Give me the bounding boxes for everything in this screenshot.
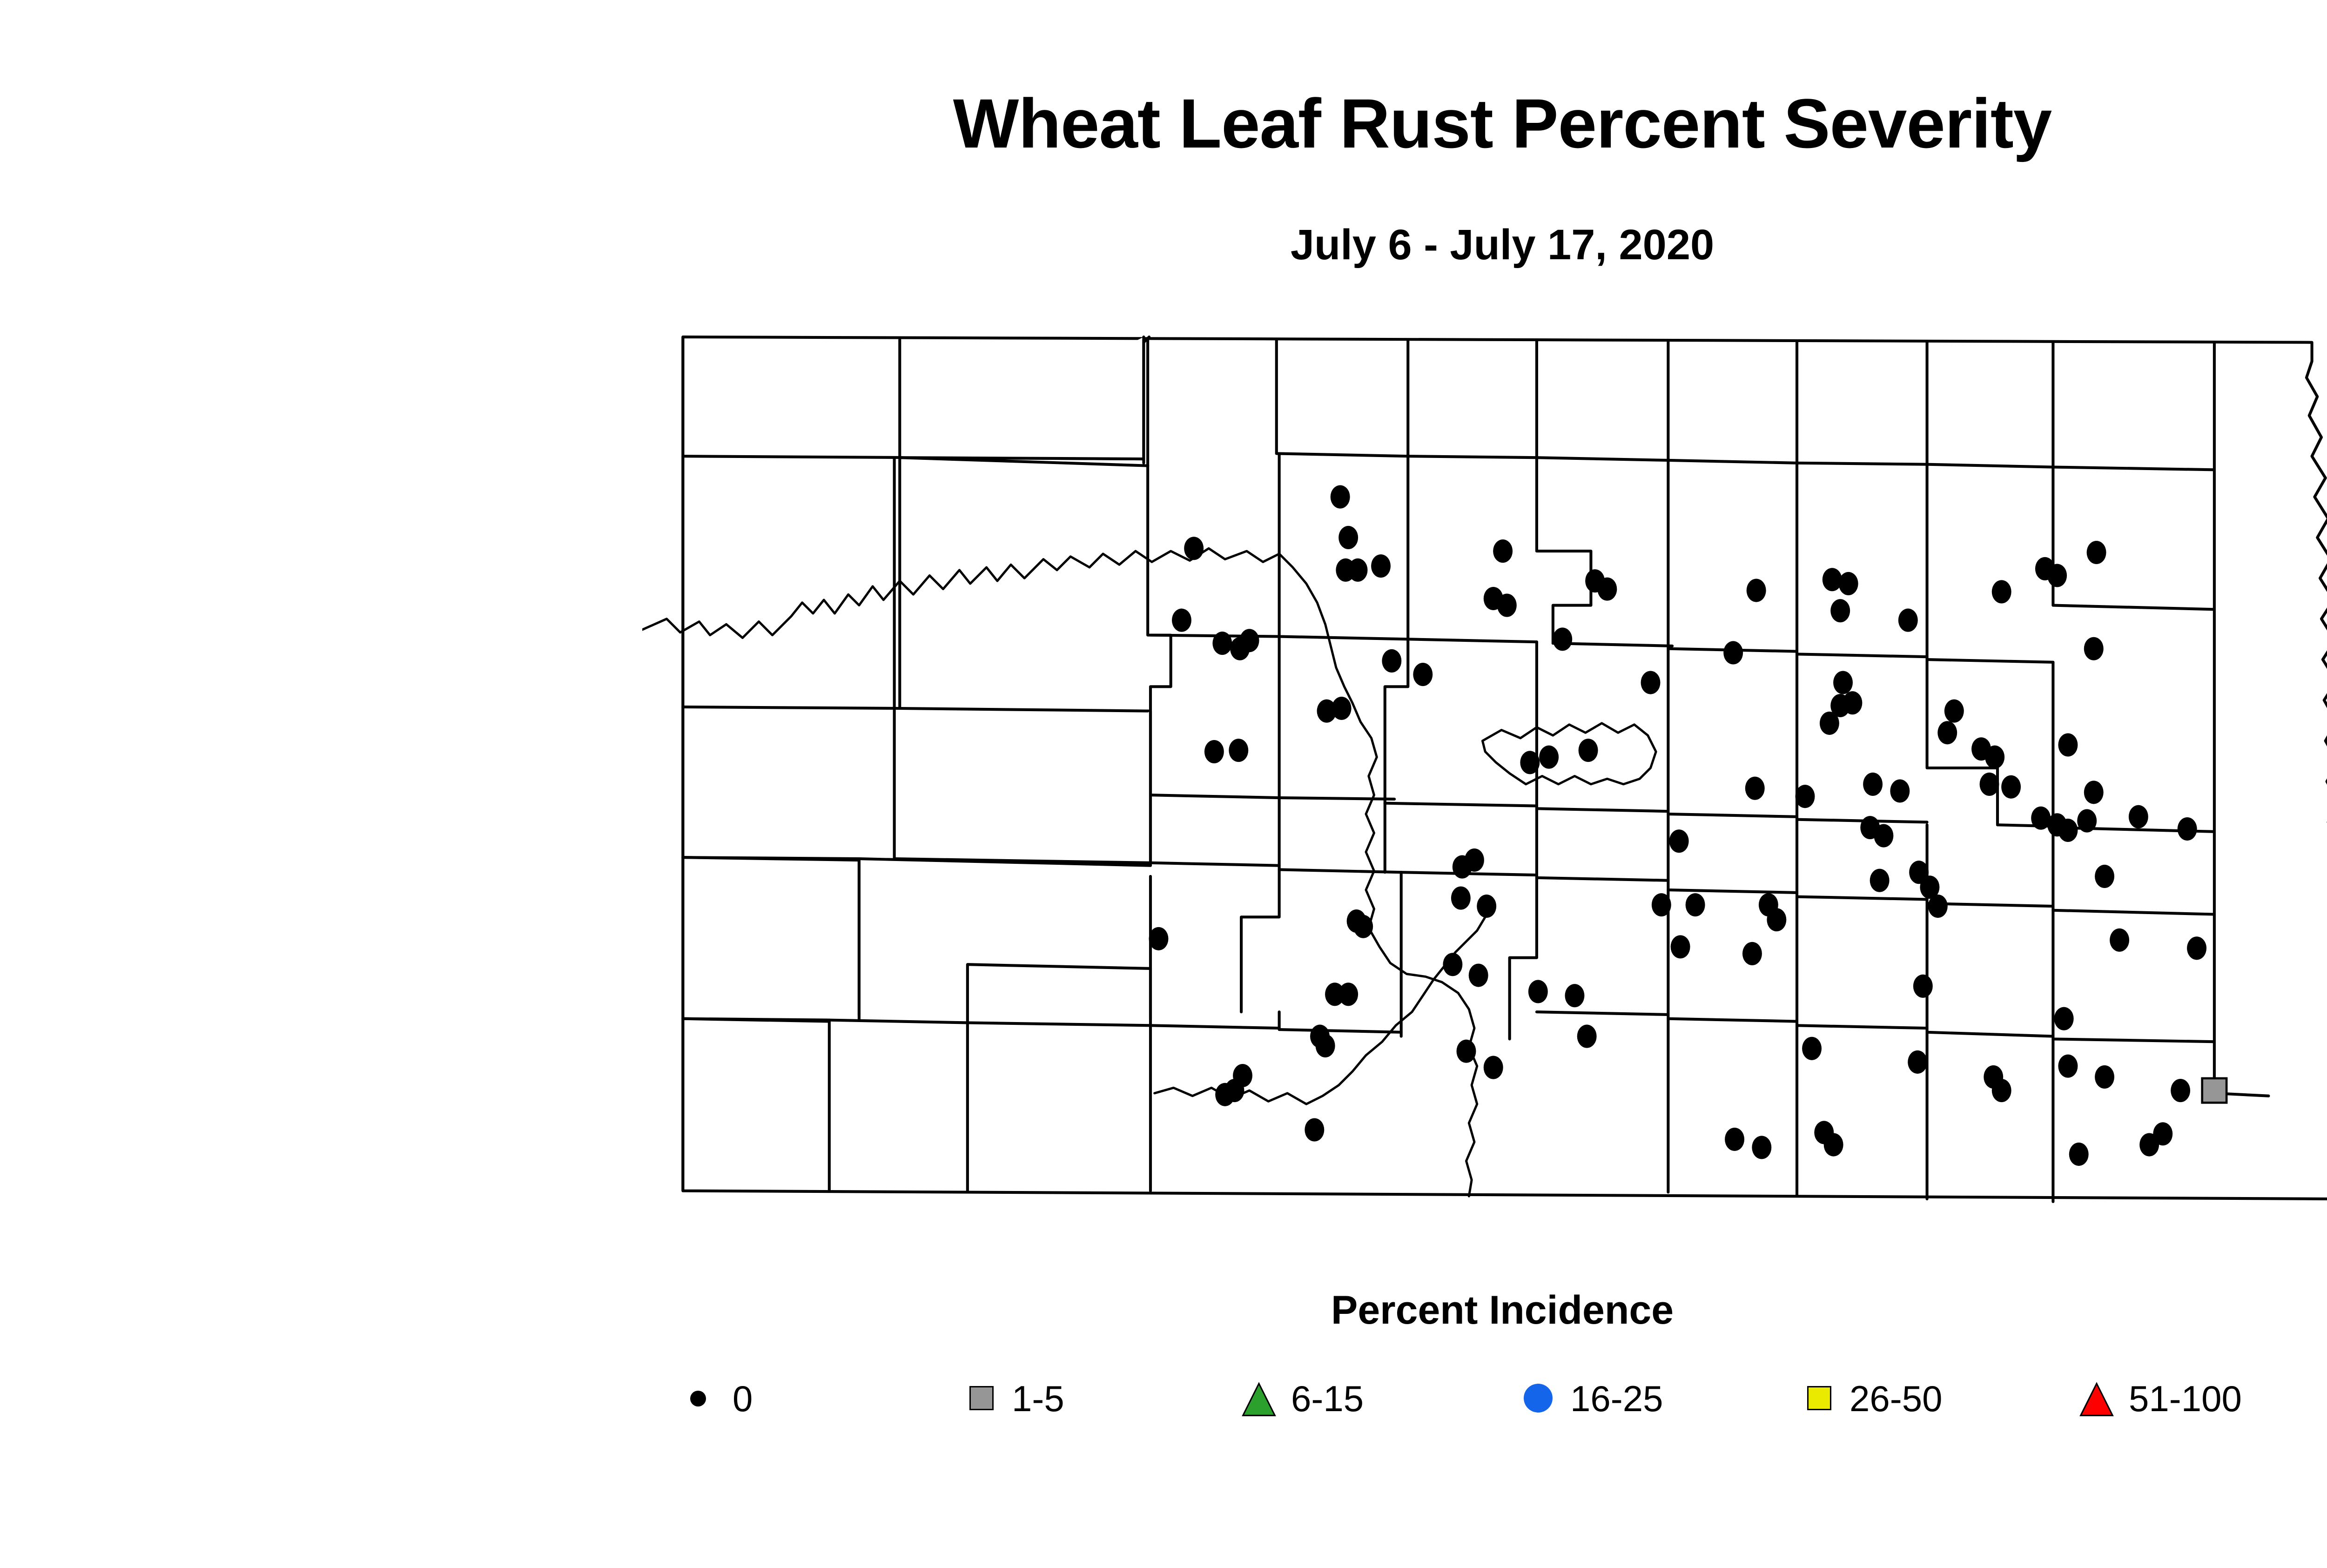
survey-point-0: [1752, 1136, 1771, 1159]
survey-point-1-5: [2202, 1078, 2226, 1103]
survey-point-0: [1316, 1034, 1335, 1057]
legend-item-label: 26-50: [1849, 1380, 1943, 1417]
legend-item-1-5[interactable]: 1-5: [954, 1364, 1064, 1433]
legend-square-icon: [1807, 1386, 1831, 1410]
survey-point-0: [1652, 893, 1671, 916]
legend-item-0[interactable]: 0: [675, 1364, 753, 1433]
survey-point-0: [1830, 599, 1850, 622]
survey-point-0: [1497, 594, 1517, 617]
survey-point-0: [1823, 568, 1842, 591]
survey-point-0: [2087, 541, 2106, 564]
survey-point-0: [2095, 865, 2114, 888]
survey-point-0: [1641, 671, 1661, 694]
survey-point-0: [1371, 554, 1391, 578]
survey-point-0: [1802, 1037, 1822, 1060]
legend-item-label: 6-15: [1291, 1380, 1364, 1417]
survey-point-0: [1484, 1056, 1503, 1079]
survey-point-0: [1413, 663, 1433, 686]
survey-point-0: [2077, 809, 2097, 833]
survey-point-0: [1723, 641, 1743, 664]
north-dakota-map: [642, 275, 2327, 1261]
survey-point-0: [1451, 887, 1471, 910]
survey-point-0: [1843, 691, 1862, 714]
survey-point-0: [2084, 637, 2104, 660]
survey-point-0: [1215, 1083, 1235, 1106]
survey-point-0: [1898, 609, 1918, 632]
survey-point-0: [1565, 984, 1584, 1007]
survey-point-0: [1229, 739, 1248, 762]
survey-point-0: [2178, 817, 2197, 841]
survey-point-0: [1669, 829, 1689, 853]
survey-point-0: [1913, 975, 1933, 998]
legend-symbol-square: [954, 1373, 1005, 1424]
legend-circle-icon: [1524, 1384, 1553, 1413]
survey-point-0: [1493, 539, 1513, 563]
survey-point-0: [1457, 1040, 1476, 1063]
survey-point-0: [1240, 629, 1259, 652]
page-title: Wheat Leaf Rust Percent Severity: [0, 88, 2327, 158]
survey-point-0: [2058, 733, 2078, 756]
survey-point-0: [1353, 915, 1373, 938]
survey-point-0: [1992, 580, 2011, 603]
survey-point-0: [1212, 632, 1232, 655]
survey-point-0: [2095, 1065, 2114, 1089]
survey-point-0: [2153, 1122, 2172, 1145]
survey-point-0: [1863, 773, 1883, 796]
survey-point-0: [1833, 671, 1853, 694]
legend-heading: Percent Incidence: [0, 1290, 2327, 1330]
legend-symbol-circle: [675, 1373, 726, 1424]
legend-symbol-circle: [1513, 1373, 1564, 1424]
survey-point-0: [1348, 559, 1368, 582]
survey-point-0: [1577, 1025, 1597, 1048]
survey-point-0: [2047, 564, 2067, 587]
survey-point-0: [1338, 526, 1358, 549]
survey-point-0: [1985, 746, 2004, 769]
survey-point-0: [1742, 942, 1762, 965]
legend-item-16-25[interactable]: 16-25: [1513, 1364, 1663, 1433]
legend-item-label: 16-25: [1570, 1380, 1663, 1417]
survey-point-0: [1597, 578, 1617, 601]
legend-triangle-icon: [1240, 1381, 1278, 1418]
survey-point-0: [1980, 773, 1999, 796]
survey-point-0: [1579, 739, 1598, 762]
survey-point-0: [1992, 1079, 2011, 1102]
survey-point-0: [1477, 895, 1496, 918]
legend-item-26-50[interactable]: 26-50: [1792, 1364, 1943, 1433]
legend-item-label: 0: [733, 1380, 753, 1417]
survey-point-0: [1870, 869, 1890, 892]
legend-item-51-100[interactable]: 51-100: [2071, 1364, 2242, 1433]
survey-point-0: [1184, 537, 1204, 560]
survey-point-0: [2001, 775, 2021, 799]
survey-point-0: [1944, 700, 1964, 723]
survey-point-0: [1149, 927, 1169, 950]
survey-point-0: [1824, 1133, 1843, 1156]
survey-point-0: [2129, 805, 2148, 828]
survey-point-0: [1686, 893, 1705, 916]
survey-point-0: [1820, 712, 1839, 735]
survey-point-0: [1767, 908, 1786, 931]
legend-circle-icon: [690, 1391, 706, 1406]
survey-point-0: [1874, 824, 1893, 848]
survey-point-0: [1305, 1118, 1324, 1141]
survey-point-0: [2171, 1079, 2190, 1102]
survey-point-0: [1839, 572, 1858, 595]
survey-point-0: [2054, 1007, 2074, 1030]
survey-point-0: [1890, 779, 1910, 802]
survey-point-0: [1671, 935, 1690, 958]
survey-point-0: [1937, 721, 1957, 744]
legend-symbol-square: [1792, 1373, 1843, 1424]
page-subtitle: July 6 - July 17, 2020: [0, 223, 2327, 266]
survey-point-0: [2058, 1055, 2078, 1078]
survey-point-0: [1443, 953, 1462, 976]
map-figure: Wheat Leaf Rust Percent Severity July 6 …: [0, 0, 2327, 1568]
survey-point-0: [1553, 627, 1572, 651]
survey-point-0: [2069, 1143, 2089, 1166]
survey-point-0: [1908, 1050, 1927, 1074]
legend-triangle-icon: [2078, 1381, 2116, 1418]
survey-point-0: [2084, 781, 2104, 804]
legend-item-6-15[interactable]: 6-15: [1233, 1364, 1364, 1433]
legend: 01-56-1516-2526-5051-100: [675, 1364, 2327, 1438]
survey-point-0: [1928, 895, 1948, 918]
survey-point-0: [1469, 963, 1488, 987]
legend-square-icon: [969, 1386, 994, 1410]
survey-point-0: [2058, 819, 2078, 842]
survey-point-0: [1204, 740, 1224, 763]
legend-symbol-triangle: [2071, 1373, 2122, 1424]
survey-point-0: [1172, 609, 1191, 632]
survey-point-0: [1539, 746, 1559, 769]
survey-point-0: [1520, 751, 1540, 774]
survey-point-0: [1332, 697, 1352, 720]
survey-point-0: [1796, 785, 1815, 808]
legend-item-label: 1-5: [1012, 1380, 1064, 1417]
survey-point-0: [1382, 649, 1401, 673]
survey-point-0: [1745, 777, 1765, 800]
survey-point-0: [2187, 936, 2206, 960]
legend-symbol-triangle: [1233, 1373, 1285, 1424]
survey-point-0: [1465, 848, 1484, 872]
survey-point-0: [1528, 980, 1548, 1003]
legend-item-label: 51-100: [2129, 1380, 2242, 1417]
survey-point-0: [1725, 1128, 1744, 1151]
survey-point-0: [1338, 983, 1358, 1006]
survey-point-0: [1331, 485, 1350, 509]
survey-point-0: [2110, 929, 2129, 952]
survey-point-0: [1747, 579, 1766, 602]
